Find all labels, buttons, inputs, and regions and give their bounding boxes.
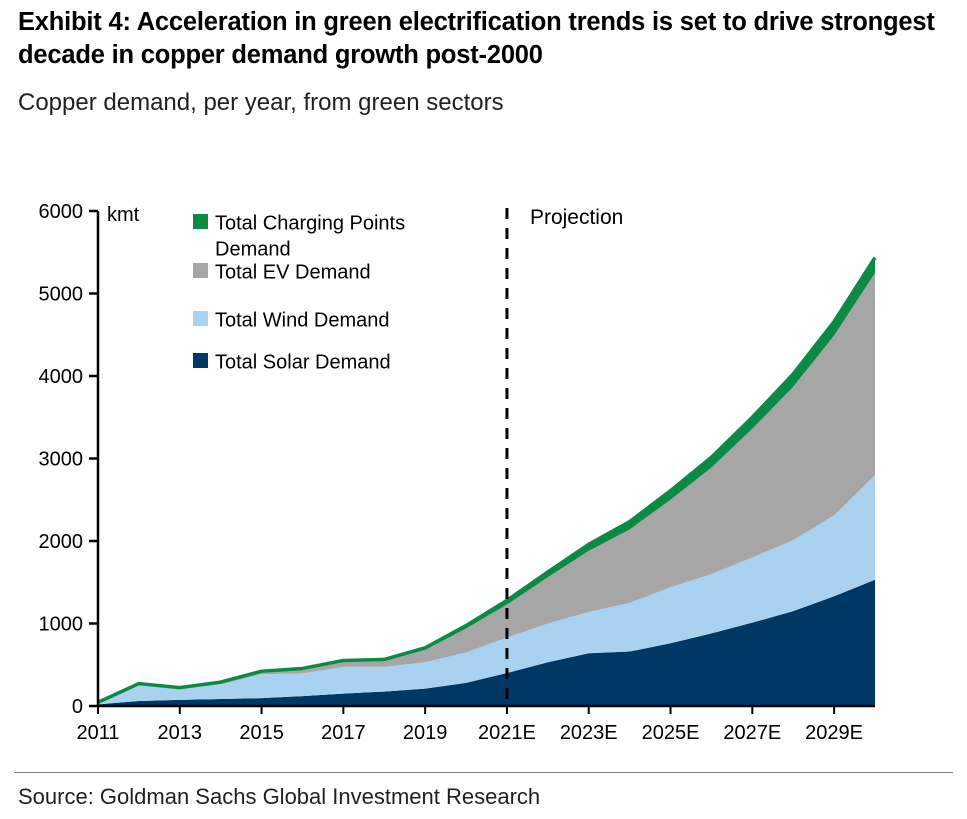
y-tick-label: 2000 [39,531,84,553]
y-axis-unit-label: kmt [107,204,140,226]
footer-divider [14,772,953,773]
y-tick-label: 1000 [39,614,84,636]
x-tick-label: 2011 [76,722,119,744]
y-tick-label: 6000 [39,201,84,223]
y-tick-label: 4000 [39,366,84,388]
stacked-area-chart: 0100020003000400050006000 20112013201520… [0,150,967,760]
page-title: Exhibit 4: Acceleration in green electri… [18,6,948,72]
legend-label-total-wind-demand: Total Wind Demand [215,310,390,332]
legend-label-total-ev-demand: Total EV Demand [215,262,371,284]
chart-container: 0100020003000400050006000 20112013201520… [0,150,967,760]
source-note: Source: Goldman Sachs Global Investment … [18,784,540,810]
x-tick-label: 2017 [321,722,366,744]
x-tick-label: 2015 [239,722,284,744]
x-tick-label: 2027E [723,722,781,744]
legend-swatch-total-ev-demand [193,263,208,278]
chart-legend: Total Charging PointsDemandTotal EV Dema… [193,213,405,374]
y-tick-label: 3000 [39,449,84,471]
legend-swatch-total-charging-points-demand [193,214,208,229]
legend-label-total-solar-demand: Total Solar Demand [215,352,391,374]
x-tick-label: 2025E [642,722,700,744]
projection-label: Projection [530,206,623,229]
page-subtitle: Copper demand, per year, from green sect… [18,88,948,118]
x-tick-label: 2013 [158,722,203,744]
x-tick-label: 2029E [805,722,863,744]
legend-swatch-total-solar-demand [193,353,208,368]
y-tick-label: 5000 [39,284,84,306]
y-tick-label: 0 [72,696,83,718]
x-tick-label: 2019 [403,722,448,744]
y-axis-ticks: 0100020003000400050006000 [39,201,99,718]
x-tick-label: 2021E [478,722,536,744]
legend-label-total-charging-points-demand: Total Charging Points [215,213,405,235]
legend-label-total-charging-points-demand: Demand [215,239,291,261]
legend-swatch-total-wind-demand [193,311,208,326]
x-axis-ticks: 201120132015201720192021E2023E2025E2027E… [76,706,863,744]
x-tick-label: 2023E [560,722,618,744]
exhibit-page: Exhibit 4: Acceleration in green electri… [0,0,967,819]
